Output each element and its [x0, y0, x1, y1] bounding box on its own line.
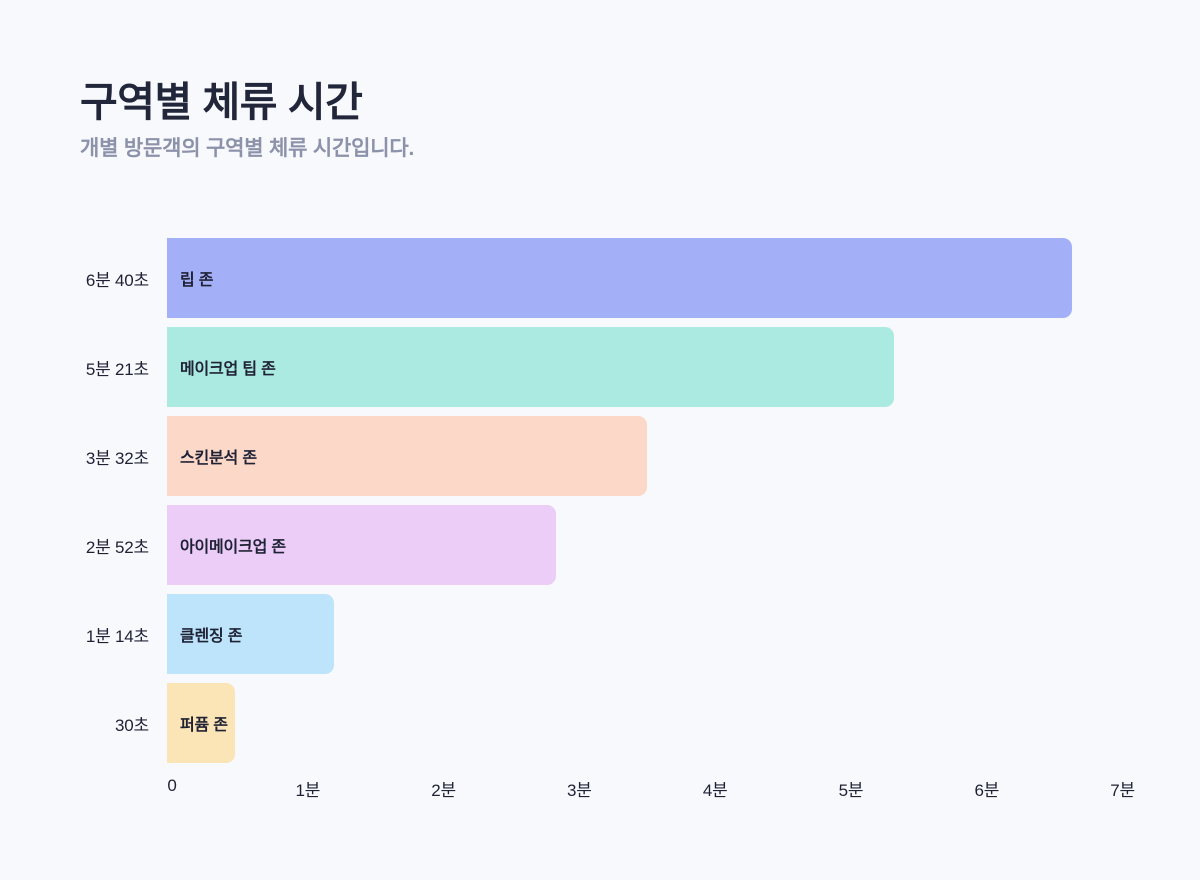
bar-value-label: 2분 52초: [0, 505, 149, 585]
bar[interactable]: 립 존: [167, 238, 1072, 318]
bar[interactable]: 퍼퓸 존: [167, 683, 235, 763]
x-axis-tick-label: 7분: [1110, 776, 1135, 801]
bar-row[interactable]: 2분 52초아이메이크업 존: [0, 505, 1200, 585]
bar-value-label: 30초: [0, 683, 149, 763]
bar-category-label: 메이크업 팁 존: [167, 355, 276, 379]
x-axis-tick-label: 0: [167, 776, 176, 796]
bar-row[interactable]: 5분 21초메이크업 팁 존: [0, 327, 1200, 407]
bar-value-label: 1분 14초: [0, 594, 149, 674]
bar-value-label: 5분 21초: [0, 327, 149, 407]
stay-duration-chart-card: 구역별 체류 시간 개별 방문객의 구역별 체류 시간입니다. 6분 40초립 …: [0, 0, 1200, 880]
x-axis-tick-label: 3분: [567, 776, 592, 801]
bar-value-label: 3분 32초: [0, 416, 149, 496]
bar-category-label: 스킨분석 존: [167, 444, 257, 468]
bar[interactable]: 클렌징 존: [167, 594, 334, 674]
bar-category-label: 립 존: [167, 266, 213, 290]
x-axis-tick-label: 1분: [295, 776, 320, 801]
chart-subtitle: 개별 방문객의 구역별 체류 시간입니다.: [80, 128, 1080, 163]
bar-row[interactable]: 30초퍼퓸 존: [0, 683, 1200, 763]
x-axis-tick-label: 5분: [839, 776, 864, 801]
bar-category-label: 아이메이크업 존: [167, 533, 286, 557]
bar-category-label: 퍼퓸 존: [167, 711, 228, 735]
bar-category-label: 클렌징 존: [167, 622, 242, 646]
bar-row[interactable]: 1분 14초클렌징 존: [0, 594, 1200, 674]
bar[interactable]: 아이메이크업 존: [167, 505, 556, 585]
bar-value-label: 6분 40초: [0, 238, 149, 318]
x-axis-tick-label: 2분: [431, 776, 456, 801]
bar[interactable]: 메이크업 팁 존: [167, 327, 894, 407]
x-axis-tick-label: 6분: [974, 776, 999, 801]
bar-row[interactable]: 6분 40초립 존: [0, 238, 1200, 318]
bar-row[interactable]: 3분 32초스킨분석 존: [0, 416, 1200, 496]
page-title: 구역별 체류 시간: [80, 76, 1080, 128]
x-axis: 01분2분3분4분5분6분7분: [0, 770, 1200, 810]
bar[interactable]: 스킨분석 존: [167, 416, 647, 496]
bar-chart-plot-area: 6분 40초립 존5분 21초메이크업 팁 존3분 32초스킨분석 존2분 52…: [0, 230, 1200, 770]
chart-header: 구역별 체류 시간 개별 방문객의 구역별 체류 시간입니다.: [80, 76, 1080, 163]
x-axis-tick-label: 4분: [703, 776, 728, 801]
